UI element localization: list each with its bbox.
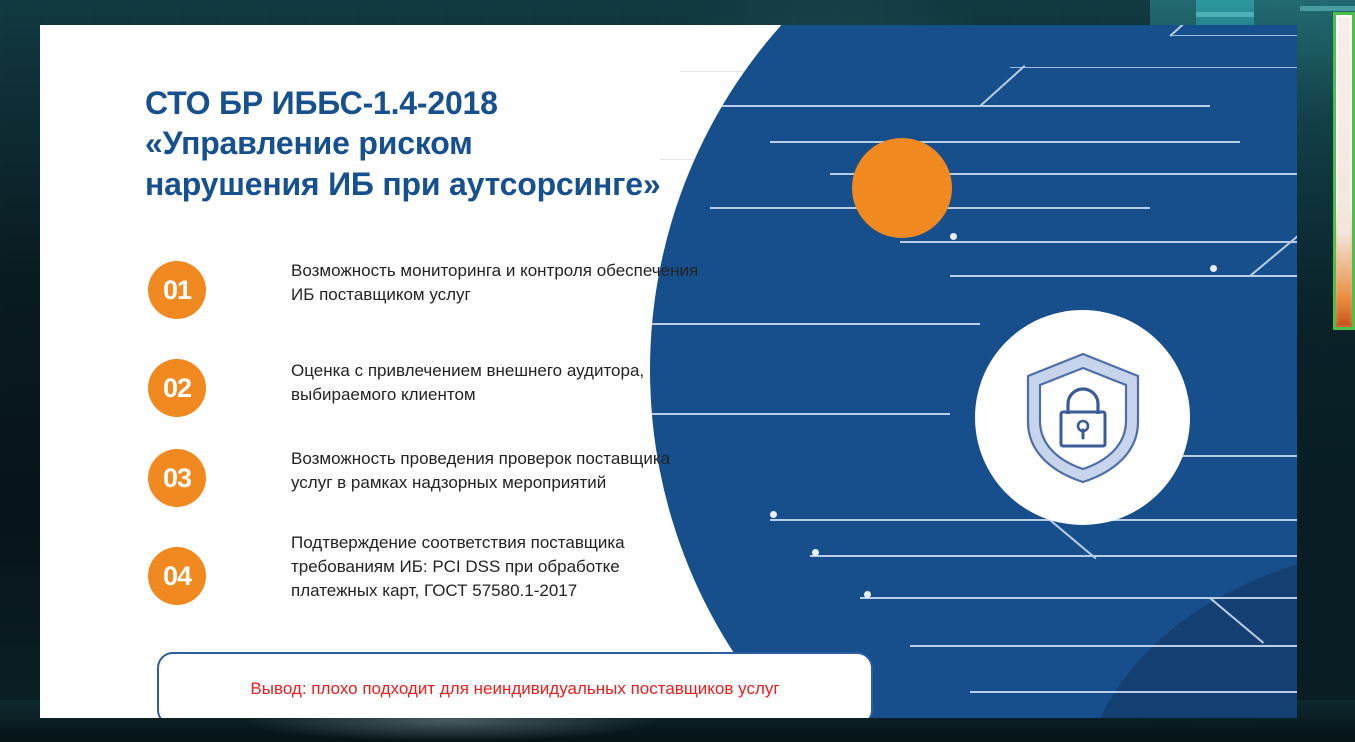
list-item: 02 Оценка с привлечением внешнего аудито… bbox=[148, 345, 848, 417]
circuit-trace bbox=[810, 555, 1297, 557]
rack-light-strip bbox=[1300, 6, 1355, 11]
list-item-number-badge: 01 bbox=[148, 261, 206, 319]
list-item: 04 Подтверждение соответствия поставщика… bbox=[148, 521, 848, 603]
list-item-line: Возможность проведения проверок поставщи… bbox=[291, 447, 848, 471]
shield-lock-icon bbox=[1018, 348, 1148, 488]
circuit-trace bbox=[1170, 35, 1297, 36]
list-item-text: Возможность мониторинга и контроля обесп… bbox=[291, 257, 848, 307]
conclusion-box: Вывод: плохо подходит для неиндивидуальн… bbox=[157, 652, 873, 718]
list-item-line: Подтверждение соответствия поставщика bbox=[291, 531, 848, 555]
side-thumbnail-content bbox=[1338, 17, 1350, 325]
circuit-trace bbox=[900, 241, 1297, 243]
title-line-3: нарушения ИБ при аутсорсинге» bbox=[145, 164, 845, 204]
list-item-text: Подтверждение соответствия поставщика тр… bbox=[291, 521, 848, 603]
circuit-trace bbox=[970, 691, 1297, 693]
page-title: СТО БР ИББС-1.4-2018 «Управление риском … bbox=[145, 83, 845, 204]
circuit-node bbox=[1210, 265, 1217, 272]
circuit-node bbox=[864, 591, 871, 598]
list-item-line: Оценка с привлечением внешнего аудитора, bbox=[291, 359, 848, 383]
list-item-text: Оценка с привлечением внешнего аудитора,… bbox=[291, 345, 848, 407]
circuit-trace bbox=[1049, 519, 1096, 559]
circuit-trace bbox=[1010, 67, 1297, 68]
list-item-number-badge: 03 bbox=[148, 449, 206, 507]
list-item-line: выбираемого клиентом bbox=[291, 383, 848, 407]
orange-accent-circle bbox=[852, 138, 952, 238]
list-item-number-badge: 04 bbox=[148, 547, 206, 605]
circuit-trace bbox=[910, 645, 1297, 647]
shield-badge bbox=[975, 310, 1190, 525]
rack-light-strip bbox=[1196, 12, 1254, 17]
circuit-trace bbox=[1249, 224, 1297, 277]
numbered-list: 01 Возможность мониторинга и контроля об… bbox=[148, 257, 848, 619]
title-line-1: СТО БР ИББС-1.4-2018 bbox=[145, 83, 845, 123]
list-item-line: ИБ поставщиком услуг bbox=[291, 283, 848, 307]
circuit-trace bbox=[950, 275, 1297, 277]
list-item-line: услуг в рамках надзорных мероприятий bbox=[291, 471, 848, 495]
title-line-2: «Управление риском bbox=[145, 123, 845, 163]
circuit-trace bbox=[770, 519, 1297, 521]
slide-canvas: СТО БР ИББС-1.4-2018 «Управление риском … bbox=[40, 25, 1297, 718]
circuit-trace bbox=[860, 597, 1297, 599]
list-item-line: требованиям ИБ: PCI DSS при обработке bbox=[291, 555, 848, 579]
list-item-line: платежных карт, ГОСТ 57580.1-2017 bbox=[291, 579, 848, 603]
list-item: 01 Возможность мониторинга и контроля об… bbox=[148, 257, 848, 329]
side-thumbnail-panel[interactable] bbox=[1333, 12, 1355, 330]
circuit-trace bbox=[979, 65, 1025, 106]
list-item: 03 Возможность проведения проверок поста… bbox=[148, 433, 848, 505]
list-item-line: Возможность мониторинга и контроля обесп… bbox=[291, 259, 848, 283]
list-item-number-badge: 02 bbox=[148, 359, 206, 417]
list-item-text: Возможность проведения проверок поставщи… bbox=[291, 433, 848, 495]
conclusion-text: Вывод: плохо подходит для неиндивидуальн… bbox=[250, 679, 779, 699]
circuit-node bbox=[950, 233, 957, 240]
